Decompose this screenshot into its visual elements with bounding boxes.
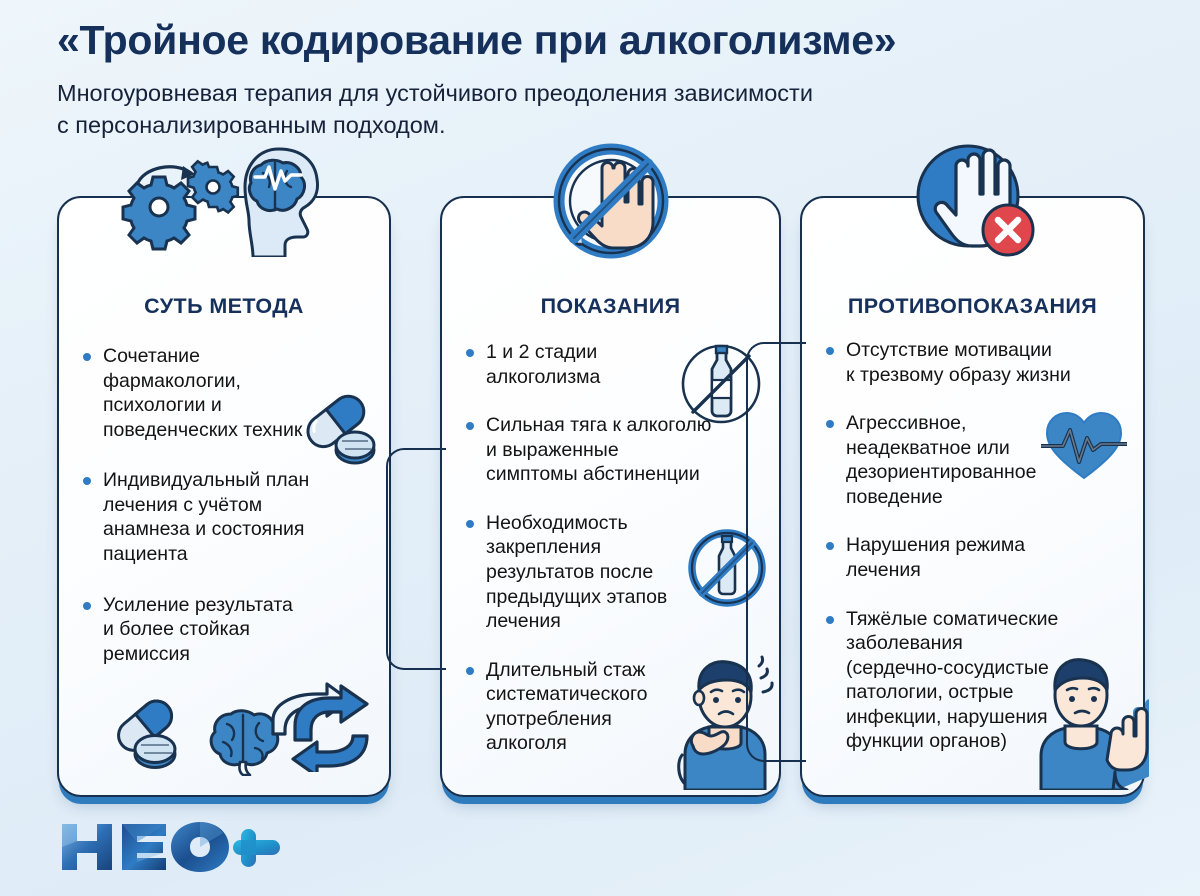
bullet-dot-icon [466, 667, 474, 675]
card2-header: ПОКАЗАНИЯ [442, 198, 779, 316]
bullet-dot-icon [83, 602, 91, 610]
bullet-dot-icon [826, 347, 834, 355]
bullet-text: 1 и 2 стадии алкоголизма [486, 340, 767, 389]
card1-bullets: Сочетание фармакологии, психологии и пов… [81, 344, 373, 685]
bullet-text: Усиление результата и более стойкая реми… [103, 593, 373, 667]
list-item: Нарушения режима лечения [824, 533, 1133, 582]
bullet-text: Индивидуальный план лечения с учётом ана… [103, 468, 373, 566]
hand-stop-with-red-x-icon [910, 138, 1036, 269]
card-sut-metoda[interactable]: СУТЬ МЕТОДА Сочетание фармакологии, псих… [57, 196, 391, 797]
bullet-text: Сильная тяга к алкоголю и выраженные сим… [486, 413, 767, 487]
brain-icon [209, 704, 287, 781]
card-connector-left [386, 448, 446, 670]
bullet-dot-icon [826, 542, 834, 550]
bullet-text: Нарушения режима лечения [846, 533, 1133, 582]
bullet-text: Агрессивное, неадекватное или дезориенти… [846, 411, 1133, 509]
page-subtitle: Многоуровневая терапия для устойчивого п… [57, 78, 1157, 142]
list-item: Сильная тяга к алкоголю и выраженные сим… [464, 413, 767, 487]
page-title: «Тройное кодирование при алкоголизме» [57, 18, 1157, 62]
bullet-dot-icon [826, 616, 834, 624]
list-item: Необходимость закрепления результатов по… [464, 511, 767, 634]
list-item: Тяжёлые соматические заболевания (сердеч… [824, 607, 1133, 754]
infographic-page: «Тройное кодирование при алкоголизме» Мн… [0, 0, 1200, 896]
bullet-text: Сочетание фармакологии, психологии и пов… [103, 344, 373, 442]
card-pokazaniya[interactable]: ПОКАЗАНИЯ 1 и 2 стадии алкоголизма Сильн… [440, 196, 781, 797]
list-item: Длительный стаж систематического употреб… [464, 658, 767, 756]
bullet-dot-icon [466, 422, 474, 430]
list-item: 1 и 2 стадии алкоголизма [464, 340, 767, 389]
list-item: Агрессивное, неадекватное или дезориенти… [824, 411, 1133, 509]
list-item: Сочетание фармакологии, психологии и пов… [81, 344, 373, 442]
card-protivopokazaniya[interactable]: ПРОТИВОПОКАЗАНИЯ Отсутствие мотивации к … [800, 196, 1145, 797]
bullet-dot-icon [826, 420, 834, 428]
bullet-dot-icon [83, 353, 91, 361]
bullet-text: Отсутствие мотивации к трезвому образу ж… [846, 338, 1133, 387]
bullet-dot-icon [83, 477, 91, 485]
card1-header: СУТЬ МЕТОДА [59, 198, 389, 316]
shuffle-arrows-icon [267, 680, 379, 777]
card3-header: ПРОТИВОПОКАЗАНИЯ [802, 198, 1143, 316]
card3-title: ПРОТИВОПОКАЗАНИЯ [802, 294, 1143, 319]
card2-bullets: 1 и 2 стадии алкоголизма Сильная тяга к … [464, 340, 767, 775]
list-item: Индивидуальный план лечения с учётом ана… [81, 468, 373, 566]
card3-bullets: Отсутствие мотивации к трезвому образу ж… [824, 338, 1133, 773]
neo-plus-logo[interactable]: НЕО+ [58, 818, 290, 874]
bullet-text: Тяжёлые соматические заболевания (сердеч… [846, 607, 1133, 754]
cards-row: СУТЬ МЕТОДА Сочетание фармакологии, псих… [0, 196, 1200, 796]
no-hand-stop-icon [550, 140, 672, 267]
gears-brain-head-icon [59, 145, 389, 262]
bullet-text: Необходимость закрепления результатов по… [486, 511, 767, 634]
list-item: Усиление результата и более стойкая реми… [81, 593, 373, 667]
card1-title: СУТЬ МЕТОДА [59, 294, 389, 319]
card2-title: ПОКАЗАНИЯ [442, 294, 779, 319]
header: «Тройное кодирование при алкоголизме» Мн… [57, 18, 1157, 142]
bullet-text: Длительный стаж систематического употреб… [486, 658, 767, 756]
bullet-dot-icon [466, 520, 474, 528]
pills-icon [107, 694, 193, 783]
list-item: Отсутствие мотивации к трезвому образу ж… [824, 338, 1133, 387]
bullet-dot-icon [466, 349, 474, 357]
